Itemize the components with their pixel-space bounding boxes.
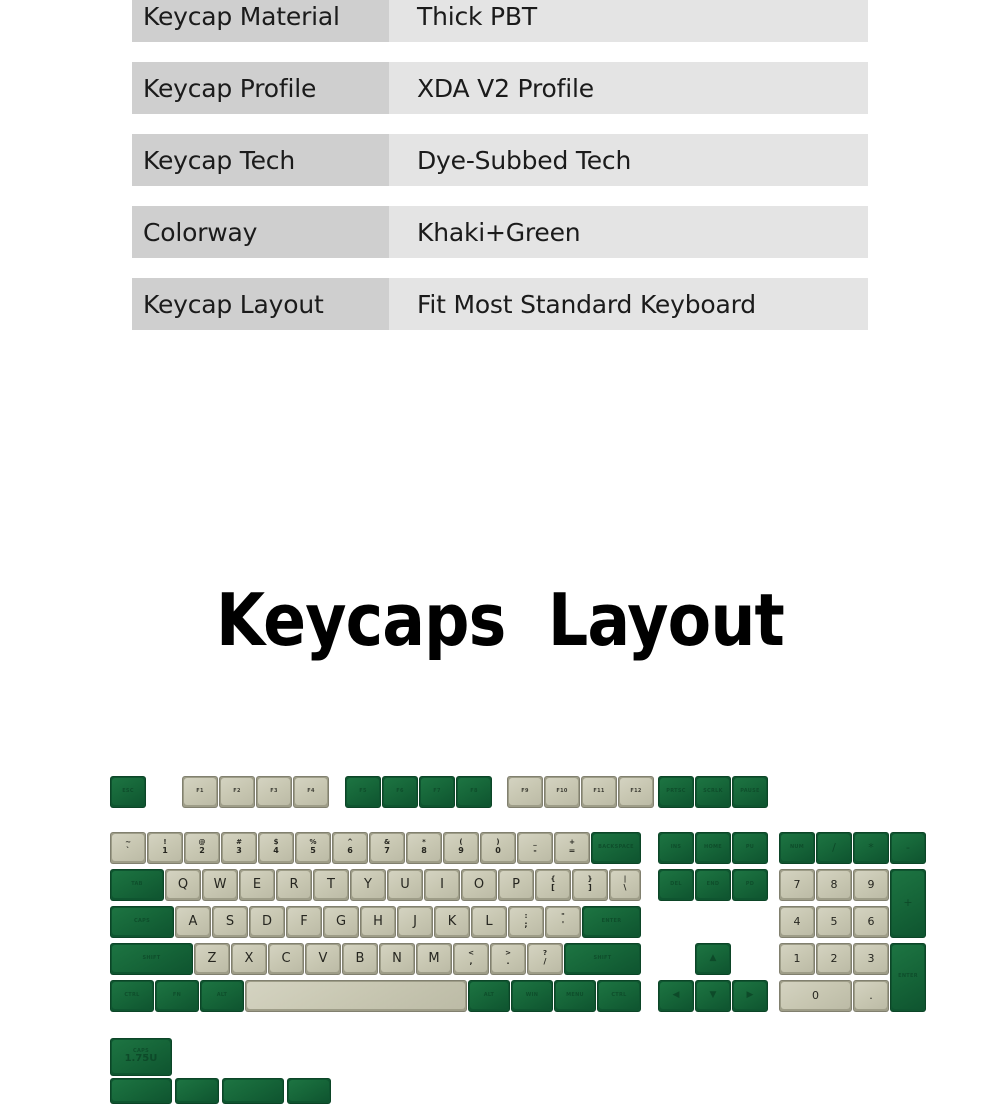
keycap-legend-shifted: > (505, 950, 511, 957)
keycap-legend-shifted: ! (163, 839, 166, 846)
keycap-legend-base: , (469, 958, 472, 966)
keycap-r[interactable]: R (276, 869, 312, 901)
keycap-legend: A (189, 915, 198, 929)
keycap-f3[interactable]: F3 (256, 776, 292, 808)
keycap-f9[interactable]: F9 (507, 776, 543, 808)
keycap-legend-shifted: + (569, 839, 575, 846)
keycap-legend: P (512, 878, 520, 892)
keycap-legend: HOME (704, 845, 722, 850)
keycap-fn[interactable]: FN (155, 980, 199, 1012)
keycap-legend-shifted: ^ (347, 839, 353, 846)
keycap-legend: 4 (794, 916, 801, 928)
keycap-legend: 2 (831, 953, 838, 965)
keycap-del[interactable]: DEL (658, 869, 694, 901)
keycap-y[interactable]: Y (350, 869, 386, 901)
keycap-legend: 1 (794, 953, 801, 965)
keycap-legend: D (262, 915, 272, 929)
keycap-h[interactable]: H (360, 906, 396, 938)
keycap-legend-base: 7 (384, 847, 390, 855)
keycap-1[interactable]: !1 (147, 832, 183, 864)
keycap-space[interactable] (245, 980, 467, 1012)
keycap-legend-base: 1 (162, 847, 168, 855)
keycap-legend-shifted: : (525, 913, 528, 920)
keycap-legend: S (226, 915, 234, 929)
keycap-num-enter[interactable]: ENTER (890, 943, 926, 1012)
keycap-k[interactable]: K (434, 906, 470, 938)
keycap-legend: L (485, 915, 492, 929)
keycap-legend: 3 (868, 953, 875, 965)
keycap-legend-shifted: * (422, 839, 426, 846)
keycap-legend-shifted: " (561, 913, 565, 920)
keycap-3[interactable]: #3 (221, 832, 257, 864)
keycap-end[interactable]: END (695, 869, 731, 901)
keycap-legend-shifted: ? (543, 950, 547, 957)
keycap-legend: F6 (396, 789, 404, 794)
keycap-legend: K (448, 915, 457, 929)
keycap-legend: X (245, 952, 254, 966)
keycap-legend-base: 5 (310, 847, 316, 855)
keycap-backspace[interactable]: BACKSPACE (591, 832, 641, 864)
keycap-i[interactable]: I (424, 869, 460, 901)
keycap-legend: SHIFT (594, 956, 612, 961)
keycap-7[interactable]: &7 (369, 832, 405, 864)
keycap-legend: M (428, 952, 439, 966)
keycap-num-8[interactable]: 8 (816, 869, 852, 901)
keycap-legend: - (906, 842, 910, 854)
keycap-legend-shifted: % (309, 839, 316, 846)
keycap-f4[interactable]: F4 (293, 776, 329, 808)
keycap-legend: V (319, 952, 328, 966)
keycap-legend: 9 (868, 879, 875, 891)
keycap-pageup[interactable]: PU (732, 832, 768, 864)
keycap-legend: F4 (307, 789, 315, 794)
keycap-legend: 6 (868, 916, 875, 928)
keycap-c[interactable]: C (268, 943, 304, 975)
keycap-arrow-down[interactable]: ▼ (695, 980, 731, 1012)
keycap-f[interactable]: F (286, 906, 322, 938)
keycap-legend: CTRL (611, 993, 626, 998)
keycap-s[interactable]: S (212, 906, 248, 938)
keycap-quote[interactable]: "' (545, 906, 581, 938)
keycap-e[interactable]: E (239, 869, 275, 901)
keycap-f10[interactable]: F10 (544, 776, 580, 808)
keycap-num-period[interactable]: . (853, 980, 889, 1012)
keycap-num-divide[interactable]: / (816, 832, 852, 864)
keycap-legend-base: \ (624, 884, 627, 892)
keycap-legend: Q (178, 878, 188, 892)
keycap-enter[interactable]: ENTER (582, 906, 641, 938)
keycap-legend: B (356, 952, 365, 966)
keycap-x[interactable]: X (231, 943, 267, 975)
keycap-pagedown[interactable]: PD (732, 869, 768, 901)
keycap-tab[interactable]: TAB (110, 869, 164, 901)
keycap-numlock[interactable]: NUM (779, 832, 815, 864)
keycap-m[interactable]: M (416, 943, 452, 975)
keycap-legend-shifted: < (468, 950, 474, 957)
keycap-legend-base: / (544, 958, 547, 966)
keycap-legend: F11 (593, 789, 604, 794)
keycap-f12[interactable]: F12 (618, 776, 654, 808)
keycap-semicolon[interactable]: :; (508, 906, 544, 938)
keycap-extra-key-3[interactable] (222, 1078, 284, 1104)
keycap-q[interactable]: Q (165, 869, 201, 901)
keycap-legend: W (214, 878, 227, 892)
keycap-comma[interactable]: <, (453, 943, 489, 975)
keycap-legend-shifted: & (384, 839, 390, 846)
keycap-num-plus[interactable]: + (890, 869, 926, 938)
keycap-ins[interactable]: INS (658, 832, 694, 864)
keycap-l[interactable]: L (471, 906, 507, 938)
keycap-lbracket[interactable]: {[ (535, 869, 571, 901)
keycap-legend: 8 (831, 879, 838, 891)
keycap-legend-shifted: ( (459, 839, 462, 846)
keycap-legend: ALT (484, 993, 495, 998)
keycap-extra-key-4[interactable] (287, 1078, 331, 1104)
keycap-legend-shifted: @ (199, 839, 206, 846)
keycap-lalt[interactable]: ALT (200, 980, 244, 1012)
keycap-legend: WIN (526, 993, 538, 998)
keycap-legend: Z (208, 952, 217, 966)
keycap-legend: E (253, 878, 261, 892)
keycap-legend-base: 6 (347, 847, 353, 855)
keycap-legend: ESC (122, 789, 134, 794)
keycap-2[interactable]: @2 (184, 832, 220, 864)
keycap-legend: ▶ (747, 991, 754, 1000)
keycap-a[interactable]: A (175, 906, 211, 938)
keycap-o[interactable]: O (461, 869, 497, 901)
keycap-j[interactable]: J (397, 906, 433, 938)
keycap-legend: SHIFT (143, 956, 161, 961)
keycap-legend: F5 (359, 789, 367, 794)
keycap-legend-base: 0 (495, 847, 501, 855)
keycap-legend: F10 (556, 789, 567, 794)
keycap-legend: BACKSPACE (598, 845, 634, 850)
keycap-b[interactable]: B (342, 943, 378, 975)
keycap-legend: + (903, 897, 912, 909)
keycap-caps[interactable]: CAPS (110, 906, 174, 938)
keycap-slash[interactable]: ?/ (527, 943, 563, 975)
keycap-arrow-up[interactable]: ▲ (695, 943, 731, 975)
keycap-legend-base: ' (562, 921, 564, 929)
keycap-f8[interactable]: F8 (456, 776, 492, 808)
keycap-f5[interactable]: F5 (345, 776, 381, 808)
keycap-legend: O (474, 878, 484, 892)
keycap-t[interactable]: T (313, 869, 349, 901)
keycap-legend-base: ; (524, 921, 527, 929)
keycap-legend: ◀ (673, 991, 680, 1000)
keycap-arrow-left[interactable]: ◀ (658, 980, 694, 1012)
keycap-legend: SCRLK (703, 789, 723, 794)
keycap-ralt[interactable]: ALT (468, 980, 510, 1012)
keycap-d[interactable]: D (249, 906, 285, 938)
keycap-v[interactable]: V (305, 943, 341, 975)
keycap-legend: 7 (794, 879, 801, 891)
keycap-legend: PRTSC (666, 789, 685, 794)
keycap-num-7[interactable]: 7 (779, 869, 815, 901)
keycap-menu[interactable]: MENU (554, 980, 596, 1012)
keycap-lshift[interactable]: SHIFT (110, 943, 193, 975)
keycap-legend: 5 (831, 916, 838, 928)
keycap-z[interactable]: Z (194, 943, 230, 975)
keycap-rshift[interactable]: SHIFT (564, 943, 641, 975)
keycap-legend: PAUSE (740, 789, 760, 794)
keycap-legend: TAB (131, 882, 143, 887)
keycap-legend: ENTER (602, 919, 622, 924)
keycap-legend-shifted: ) (496, 839, 499, 846)
keycap-n[interactable]: N (379, 943, 415, 975)
keycap-legend: I (440, 878, 444, 892)
keycap-legend-base: 4 (273, 847, 279, 855)
keycap-num-6[interactable]: 6 (853, 906, 889, 938)
keycap-legend-base: 3 (236, 847, 242, 855)
keycap-legend-base: 2 (199, 847, 205, 855)
keycap-minus[interactable]: _- (517, 832, 553, 864)
keycap-num-0[interactable]: 0 (779, 980, 852, 1012)
keycap-legend: F1 (196, 789, 204, 794)
keycap-legend: CAPS (134, 919, 150, 924)
keycap-win[interactable]: WIN (511, 980, 553, 1012)
keycap-num-multiply[interactable]: * (853, 832, 889, 864)
keycap-8[interactable]: *8 (406, 832, 442, 864)
keycap-pause[interactable]: PAUSE (732, 776, 768, 808)
keycap-4[interactable]: $4 (258, 832, 294, 864)
keycap-extra-key-2[interactable] (175, 1078, 219, 1104)
keycap-legend: F8 (470, 789, 478, 794)
keycap-esc[interactable]: ESC (110, 776, 146, 808)
keycap-scrlk[interactable]: SCRLK (695, 776, 731, 808)
keycap-num-5[interactable]: 5 (816, 906, 852, 938)
keycap-legend-shifted: } (588, 876, 593, 883)
keycap-legend: END (707, 882, 720, 887)
keycap-legend-shifted: | (624, 876, 627, 883)
keycap-legend: G (336, 915, 346, 929)
keycap-w[interactable]: W (202, 869, 238, 901)
keycap-equal[interactable]: += (554, 832, 590, 864)
keycap-legend-shifted: _ (533, 839, 537, 846)
keycap-p[interactable]: P (498, 869, 534, 901)
keycap-legend: DEL (670, 882, 682, 887)
keycap-legend-base: ` (126, 847, 130, 855)
keycap-legend: F (300, 915, 307, 929)
keycap-num-2[interactable]: 2 (816, 943, 852, 975)
keycap-prtsc[interactable]: PRTSC (658, 776, 694, 808)
keycap-6[interactable]: ^6 (332, 832, 368, 864)
keycap-legend: F3 (270, 789, 278, 794)
keycap-legend: ▼ (710, 991, 717, 1000)
keycap-f2[interactable]: F2 (219, 776, 255, 808)
keycap-legend: MENU (566, 993, 584, 998)
keycap-legend: Y (364, 878, 372, 892)
keycap-legend: C (281, 952, 290, 966)
keycap-legend: R (289, 878, 298, 892)
keycap-legend-base: ] (588, 884, 592, 892)
keycap-legend-shifted: # (236, 839, 242, 846)
keycap-home[interactable]: HOME (695, 832, 731, 864)
keycap-legend-shifted: { (551, 876, 556, 883)
keycap-legend: F12 (630, 789, 641, 794)
keycap-period[interactable]: >. (490, 943, 526, 975)
keycap-lctrl[interactable]: CTRL (110, 980, 154, 1012)
keycap-f1[interactable]: F1 (182, 776, 218, 808)
keycap-legend: ▲ (710, 954, 717, 963)
keycap-legend: F7 (433, 789, 441, 794)
keycap-legend: ALT (217, 993, 228, 998)
keycap-legend: 0 (812, 990, 819, 1002)
keycap-legend-base: . (506, 958, 509, 966)
keycap-caps-175u[interactable]: CAPS1.75U (110, 1038, 172, 1076)
keycap-legend: U (400, 878, 410, 892)
keycap-legend: NUM (790, 845, 804, 850)
keycap-legend: F9 (521, 789, 529, 794)
keycaps-layout-diagram: ESCF1F2F3F4F5F6F7F8F9F10F11F12PRTSCSCRLK… (0, 0, 1000, 1090)
keycap-u[interactable]: U (387, 869, 423, 901)
keycap-legend-base: = (569, 847, 576, 855)
keycap-legend-base: [ (551, 884, 555, 892)
keycap-5[interactable]: %5 (295, 832, 331, 864)
keycap-extra-key-1[interactable] (110, 1078, 172, 1104)
keycap-g[interactable]: G (323, 906, 359, 938)
keycap-f6[interactable]: F6 (382, 776, 418, 808)
keycap-legend: / (832, 842, 836, 854)
keycap-legend-base: 9 (458, 847, 464, 855)
keycap-legend: ENTER (898, 974, 918, 979)
keycap-f11[interactable]: F11 (581, 776, 617, 808)
keycap-legend: PU (746, 845, 754, 850)
keycap-arrow-right[interactable]: ▶ (732, 980, 768, 1012)
keycap-legend: * (868, 842, 874, 854)
keycap-legend: J (413, 915, 417, 929)
keycap-legend: F2 (233, 789, 241, 794)
keycap-legend: CTRL (124, 993, 139, 998)
keycap-legend: FN (173, 993, 181, 998)
keycap-legend: H (373, 915, 383, 929)
keycap-9[interactable]: (9 (443, 832, 479, 864)
keycap-num-9[interactable]: 9 (853, 869, 889, 901)
keycap-legend: T (327, 878, 335, 892)
keycap-rctrl[interactable]: CTRL (597, 980, 641, 1012)
keycap-legend-base: - (533, 847, 536, 855)
keycap-legend: N (392, 952, 402, 966)
keycap-legend: INS (671, 845, 682, 850)
keycap-0[interactable]: )0 (480, 832, 516, 864)
keycap-legend-shifted: $ (274, 839, 279, 846)
keycap-backslash[interactable]: |\ (609, 869, 641, 901)
keycap-rbracket[interactable]: }] (572, 869, 608, 901)
keycap-f7[interactable]: F7 (419, 776, 455, 808)
keycap-legend: . (869, 990, 873, 1002)
keycap-legend: PD (746, 882, 754, 887)
keycap-num-minus[interactable]: - (890, 832, 926, 864)
keycap-num-1[interactable]: 1 (779, 943, 815, 975)
keycap-grave[interactable]: ~` (110, 832, 146, 864)
keycap-legend-base: 8 (421, 847, 427, 855)
keycap-legend: CAPS (133, 1049, 149, 1054)
keycap-num-3[interactable]: 3 (853, 943, 889, 975)
keycap-size-annotation: 1.75U (125, 1054, 158, 1065)
keycap-num-4[interactable]: 4 (779, 906, 815, 938)
